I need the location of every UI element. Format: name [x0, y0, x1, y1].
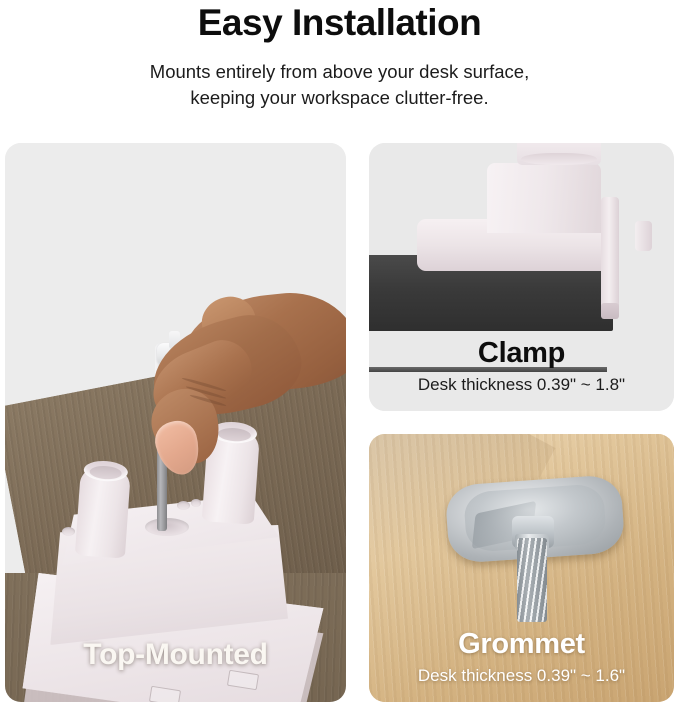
mount-post-left [75, 463, 131, 558]
screw-hole-left [62, 527, 75, 536]
page-title: Easy Installation [0, 0, 679, 41]
screw-hole-mid-a [177, 501, 190, 510]
subtitle-line-2: keeping your workspace clutter-free. [0, 85, 679, 111]
screw-hole-mid-b [191, 499, 201, 507]
panel-grommet: Grommet Desk thickness 0.39" ~ 1.6" [369, 434, 674, 702]
clamp-foot-pad [601, 303, 619, 319]
panel-clamp: Clamp Desk thickness 0.39" ~ 1.8" [369, 143, 674, 411]
clamp-label: Clamp Desk thickness 0.39" ~ 1.8" [369, 337, 674, 395]
subtitle-line-1: Mounts entirely from above your desk sur… [0, 59, 679, 85]
hand-illustration [123, 291, 346, 476]
clamp-collar-ring [521, 153, 597, 165]
clamp-tension-knob [635, 221, 652, 251]
grommet-bolt [517, 538, 547, 622]
clamp-jaw [601, 197, 619, 313]
top-mounted-title: Top-Mounted [5, 638, 346, 672]
clamp-title: Clamp [369, 337, 674, 370]
header: Easy Installation Mounts entirely from a… [0, 0, 679, 110]
top-mounted-label: Top-Mounted [5, 638, 346, 672]
clamp-spec: Desk thickness 0.39" ~ 1.8" [369, 375, 674, 395]
page-subtitle: Mounts entirely from above your desk sur… [0, 59, 679, 110]
grommet-title: Grommet [369, 628, 674, 661]
bolt-socket-ring [145, 518, 189, 536]
panel-top-mounted: Top-Mounted [5, 143, 346, 702]
infographic-root: Easy Installation Mounts entirely from a… [0, 0, 679, 707]
grommet-spec: Desk thickness 0.39" ~ 1.6" [369, 666, 674, 686]
grommet-label: Grommet Desk thickness 0.39" ~ 1.6" [369, 628, 674, 686]
clamp-riser [487, 163, 601, 233]
